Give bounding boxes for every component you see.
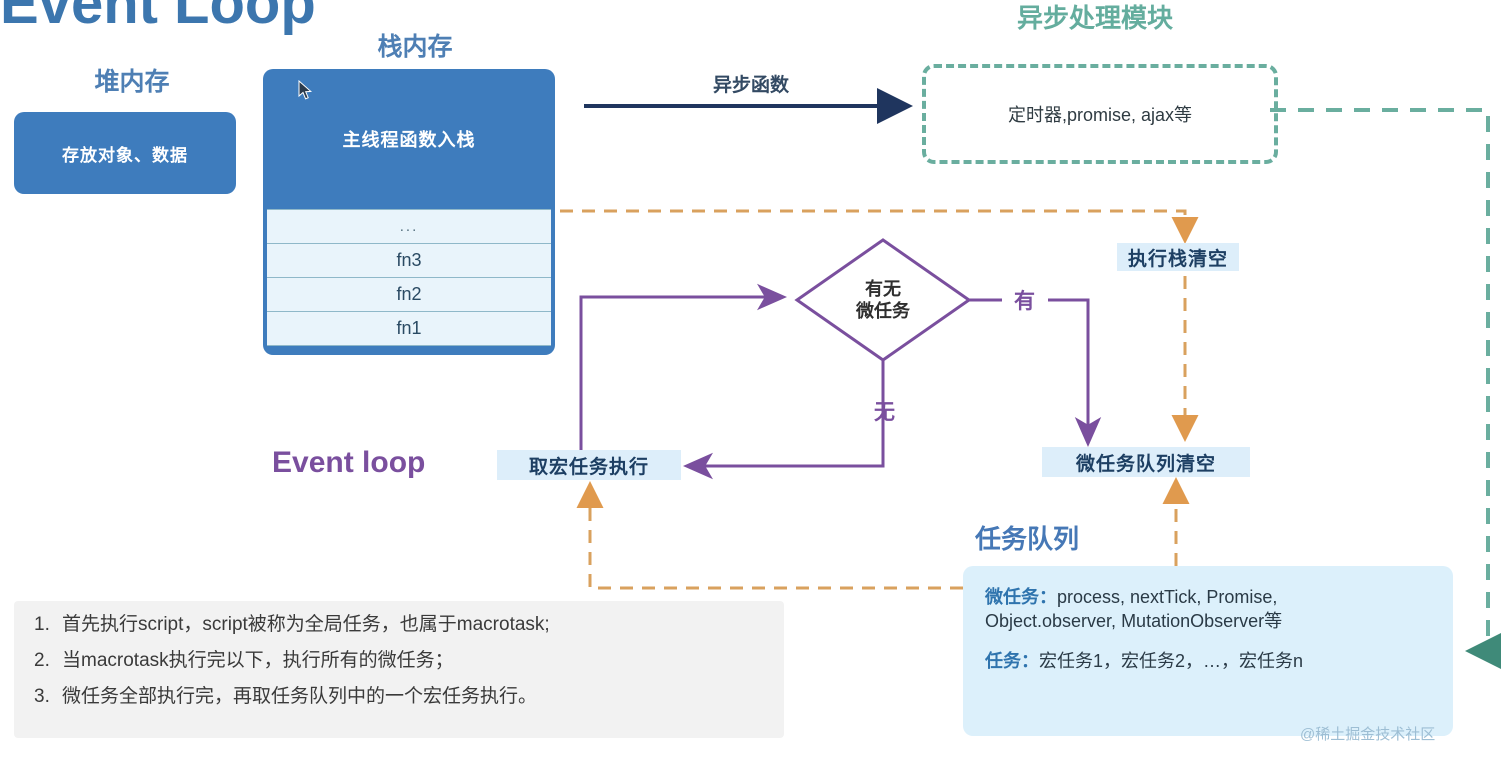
stack-frame: fn3 [267, 244, 551, 278]
decision-yes-label: 有 [1014, 285, 1035, 315]
watermark: @稀土掘金技术社区 [1300, 723, 1435, 744]
note-number: 3. [34, 687, 62, 706]
mouse-cursor-icon [298, 80, 314, 102]
page-title: Event Loop [0, 0, 316, 37]
heap-box-text: 存放对象、数据 [62, 141, 188, 166]
task-queue-task-value: 宏任务1，宏任务2，…，宏任务n [1039, 651, 1303, 671]
decision-no-label: 无 [874, 396, 895, 426]
note-item: 1. 首先执行script，script被称为全局任务，也属于macrotask… [34, 615, 764, 634]
task-queue-micro-key: 微任务： [985, 587, 1057, 607]
task-queue-box: 微任务：process, nextTick, Promise, Object.o… [963, 566, 1453, 736]
async-module-box: 定时器,promise, ajax等 [922, 64, 1278, 164]
notes-panel: 1. 首先执行script，script被称为全局任务，也属于macrotask… [14, 601, 784, 738]
microtask-queue-cleared-chip: 微任务队列清空 [1042, 447, 1250, 477]
stack-frame: fn2 [267, 278, 551, 312]
stack-cleared-chip: 执行栈清空 [1117, 243, 1239, 271]
note-text: 微任务全部执行完，再取任务队列中的一个宏任务执行。 [62, 687, 537, 706]
note-item: 3. 微任务全部执行完，再取任务队列中的一个宏任务执行。 [34, 687, 764, 706]
stack-label: 栈内存 [350, 27, 480, 63]
note-number: 2. [34, 651, 62, 670]
task-queue-task-line: 任务：宏任务1，宏任务2，…，宏任务n [985, 650, 1431, 674]
stack-frame: ... [267, 209, 551, 244]
event-loop-label: Event loop [272, 446, 425, 480]
heap-label: 堆内存 [72, 62, 192, 98]
task-queue-micro-value-2: Object.observer, MutationObserver等 [985, 611, 1282, 631]
async-module-label: 异步处理模块 [975, 0, 1215, 35]
note-text: 当macrotask执行完以下，执行所有的微任务； [62, 651, 454, 670]
decision-diamond: 有无 微任务 [797, 240, 969, 360]
decision-diamond-text: 有无 微任务 [797, 240, 969, 360]
edge-taskqueue-to-macroexec [590, 487, 963, 588]
edge-macroexec-to-decision [581, 297, 781, 450]
task-queue-label: 任务队列 [975, 519, 1125, 556]
take-macrotask-chip: 取宏任务执行 [497, 450, 681, 480]
note-text: 首先执行script，script被称为全局任务，也属于macrotask; [62, 615, 550, 634]
task-queue-task-key: 任务： [985, 651, 1039, 671]
diagram-canvas: Event Loop 堆内存 存放对象、数据 栈内存 主线程函数入栈 ... f… [0, 0, 1512, 759]
call-stack-box: 主线程函数入栈 ... fn3 fn2 fn1 [263, 69, 555, 355]
edge-decision-no-to-macroexec [689, 361, 883, 466]
note-number: 1. [34, 615, 62, 634]
async-module-text: 定时器,promise, ajax等 [1008, 101, 1192, 127]
task-queue-micro-line: 微任务：process, nextTick, Promise, Object.o… [985, 586, 1431, 634]
async-function-edge-label: 异步函数 [713, 70, 789, 97]
edge-decision-yes-to-microclear [969, 300, 1088, 441]
decision-line-2: 微任务 [856, 300, 910, 323]
decision-line-1: 有无 [865, 278, 901, 301]
task-queue-spacer [985, 634, 1431, 650]
task-queue-micro-value-1: process, nextTick, Promise, [1057, 587, 1277, 607]
heap-box: 存放对象、数据 [14, 112, 236, 194]
stack-frame: fn1 [267, 312, 551, 346]
stack-frame-list: ... fn3 fn2 fn1 [267, 209, 551, 346]
note-item: 2. 当macrotask执行完以下，执行所有的微任务； [34, 651, 764, 670]
